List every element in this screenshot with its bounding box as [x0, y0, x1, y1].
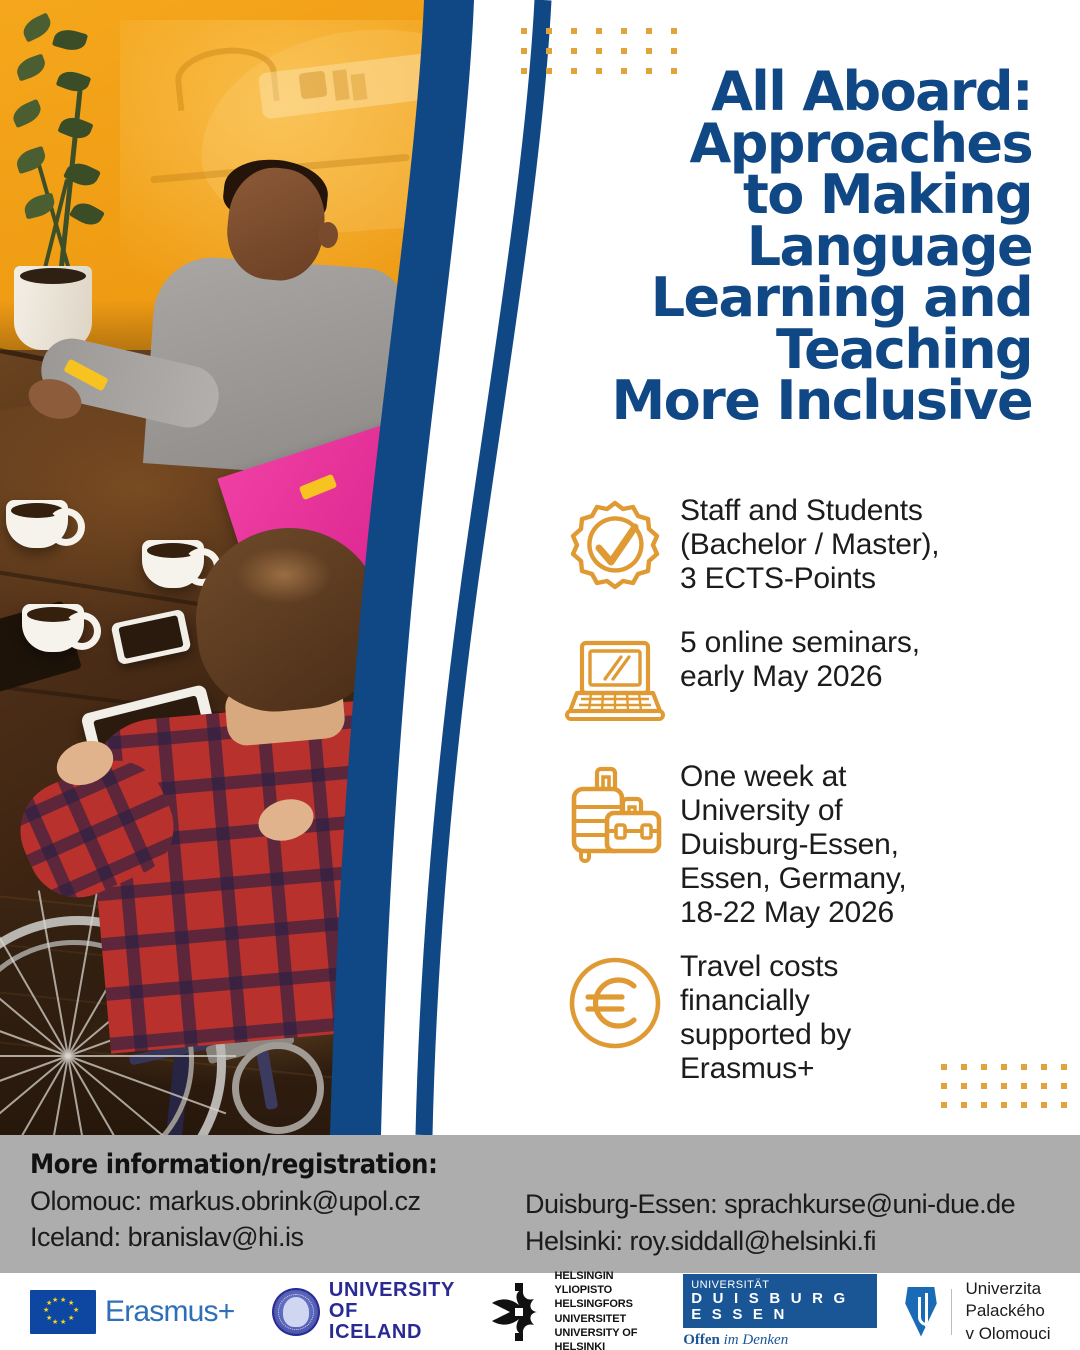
universitat-duisburg-essen-logo: UNIVERSITÄT D U I S B U R G E S S E N Of… [683, 1273, 877, 1350]
bullet-text: 5 online seminars, early May 2026 [670, 624, 1060, 694]
iceland-seal-icon [272, 1288, 319, 1336]
photo-plant-soil [20, 268, 86, 284]
contact-iceland[interactable]: Iceland: branislav@hi.is [30, 1219, 510, 1256]
due-slogan-bold: Offen [683, 1332, 720, 1348]
photo-coffee-cup-1 [6, 500, 68, 548]
due-line-2: D U I S B U R G [691, 1291, 869, 1307]
helsinki-wordmark: HELSINGIN YLIOPISTO HELSINGFORS UNIVERSI… [555, 1269, 654, 1350]
contact-olomouc[interactable]: Olomouc: markus.obrink@upol.cz [30, 1183, 510, 1220]
eu-flag-icon: ★ ★ ★ ★ ★ ★ ★ ★ ★ ★ [30, 1290, 96, 1334]
iceland-line-1: UNIVERSITY [329, 1280, 456, 1301]
photo-scene [0, 0, 560, 1135]
euro-coin-icon [560, 948, 670, 1058]
badge-check-icon [560, 492, 670, 602]
due-line-3: E S S E N [691, 1307, 869, 1323]
bullet-list: Staff and Students (Bachelor / Master), … [560, 492, 1060, 1110]
photo-wall-poster-mark-a [299, 71, 328, 100]
due-blue-box: UNIVERSITÄT D U I S B U R G E S S E N [683, 1274, 877, 1329]
univerzita-palackeho-logo: Univerzita Palackého v Olomouci [905, 1273, 1080, 1350]
contact-duisburg-essen[interactable]: Duisburg-Essen: sprachkurse@uni-due.de [525, 1186, 1070, 1223]
photo-coffee-cup-2 [142, 540, 204, 588]
laptop-icon [560, 624, 670, 734]
iceland-wordmark: UNIVERSITY OF ICELAND [329, 1280, 456, 1344]
logo-bar: ★ ★ ★ ★ ★ ★ ★ ★ ★ ★ Erasmus+ UNIVERSITY … [0, 1273, 1080, 1350]
helsinki-line-1: HELSINGIN YLIOPISTO [555, 1269, 654, 1298]
palacky-line-1: Univerzita Palackého [965, 1278, 1080, 1323]
contact-column-right: Duisburg-Essen: sprachkurse@uni-due.de H… [525, 1186, 1070, 1259]
bullet-item-travel-funding: Travel costs financially supported by Er… [560, 948, 1060, 1086]
poster-root: All Aboard: Approaches to Making Languag… [0, 0, 1080, 1350]
bullet-text: Staff and Students (Bachelor / Master), … [670, 492, 1060, 596]
helsinki-line-3: UNIVERSITY OF HELSINKI [555, 1326, 654, 1350]
photo-coffee-cup-3 [22, 604, 84, 652]
bullet-text: Travel costs financially supported by Er… [670, 948, 1060, 1086]
bullet-text: One week at University of Duisburg-Essen… [670, 758, 1060, 930]
due-line-1: UNIVERSITÄT [691, 1279, 869, 1291]
page-title: All Aboard: Approaches to Making Languag… [560, 66, 1032, 427]
contact-heading: More information/registration: [30, 1148, 510, 1183]
erasmus-plus-logo: ★ ★ ★ ★ ★ ★ ★ ★ ★ ★ Erasmus+ [30, 1273, 234, 1350]
helsinki-line-2: HELSINGFORS UNIVERSITET [555, 1297, 654, 1326]
contact-helsinki[interactable]: Helsinki: roy.siddall@helsinki.fi [525, 1223, 1070, 1260]
palacky-wordmark: Univerzita Palackého v Olomouci [965, 1278, 1080, 1345]
palacky-line-2: v Olomouci [965, 1323, 1080, 1345]
luggage-icon [560, 758, 670, 868]
iceland-line-2: OF ICELAND [329, 1301, 456, 1343]
due-slogan: Offen im Denken [683, 1332, 788, 1349]
palacky-shield-icon [905, 1287, 937, 1337]
bullet-item-mobility-week: One week at University of Duisburg-Essen… [560, 758, 1060, 930]
palacky-divider [951, 1289, 952, 1335]
hero-photo [0, 0, 560, 1135]
university-of-helsinki-logo: HELSINGIN YLIOPISTO HELSINGFORS UNIVERSI… [490, 1273, 654, 1350]
erasmus-wordmark: Erasmus+ [105, 1295, 234, 1329]
bullet-item-seminars: 5 online seminars, early May 2026 [560, 624, 1060, 734]
contact-column-left: More information/registration: Olomouc: … [30, 1148, 510, 1256]
helsinki-emblem-icon [490, 1283, 548, 1341]
due-slogan-rest: im Denken [720, 1332, 788, 1348]
photo-wall-poster-mark-c [350, 73, 367, 101]
bullet-item-eligibility: Staff and Students (Bachelor / Master), … [560, 492, 1060, 602]
university-of-iceland-logo: UNIVERSITY OF ICELAND [272, 1273, 455, 1350]
